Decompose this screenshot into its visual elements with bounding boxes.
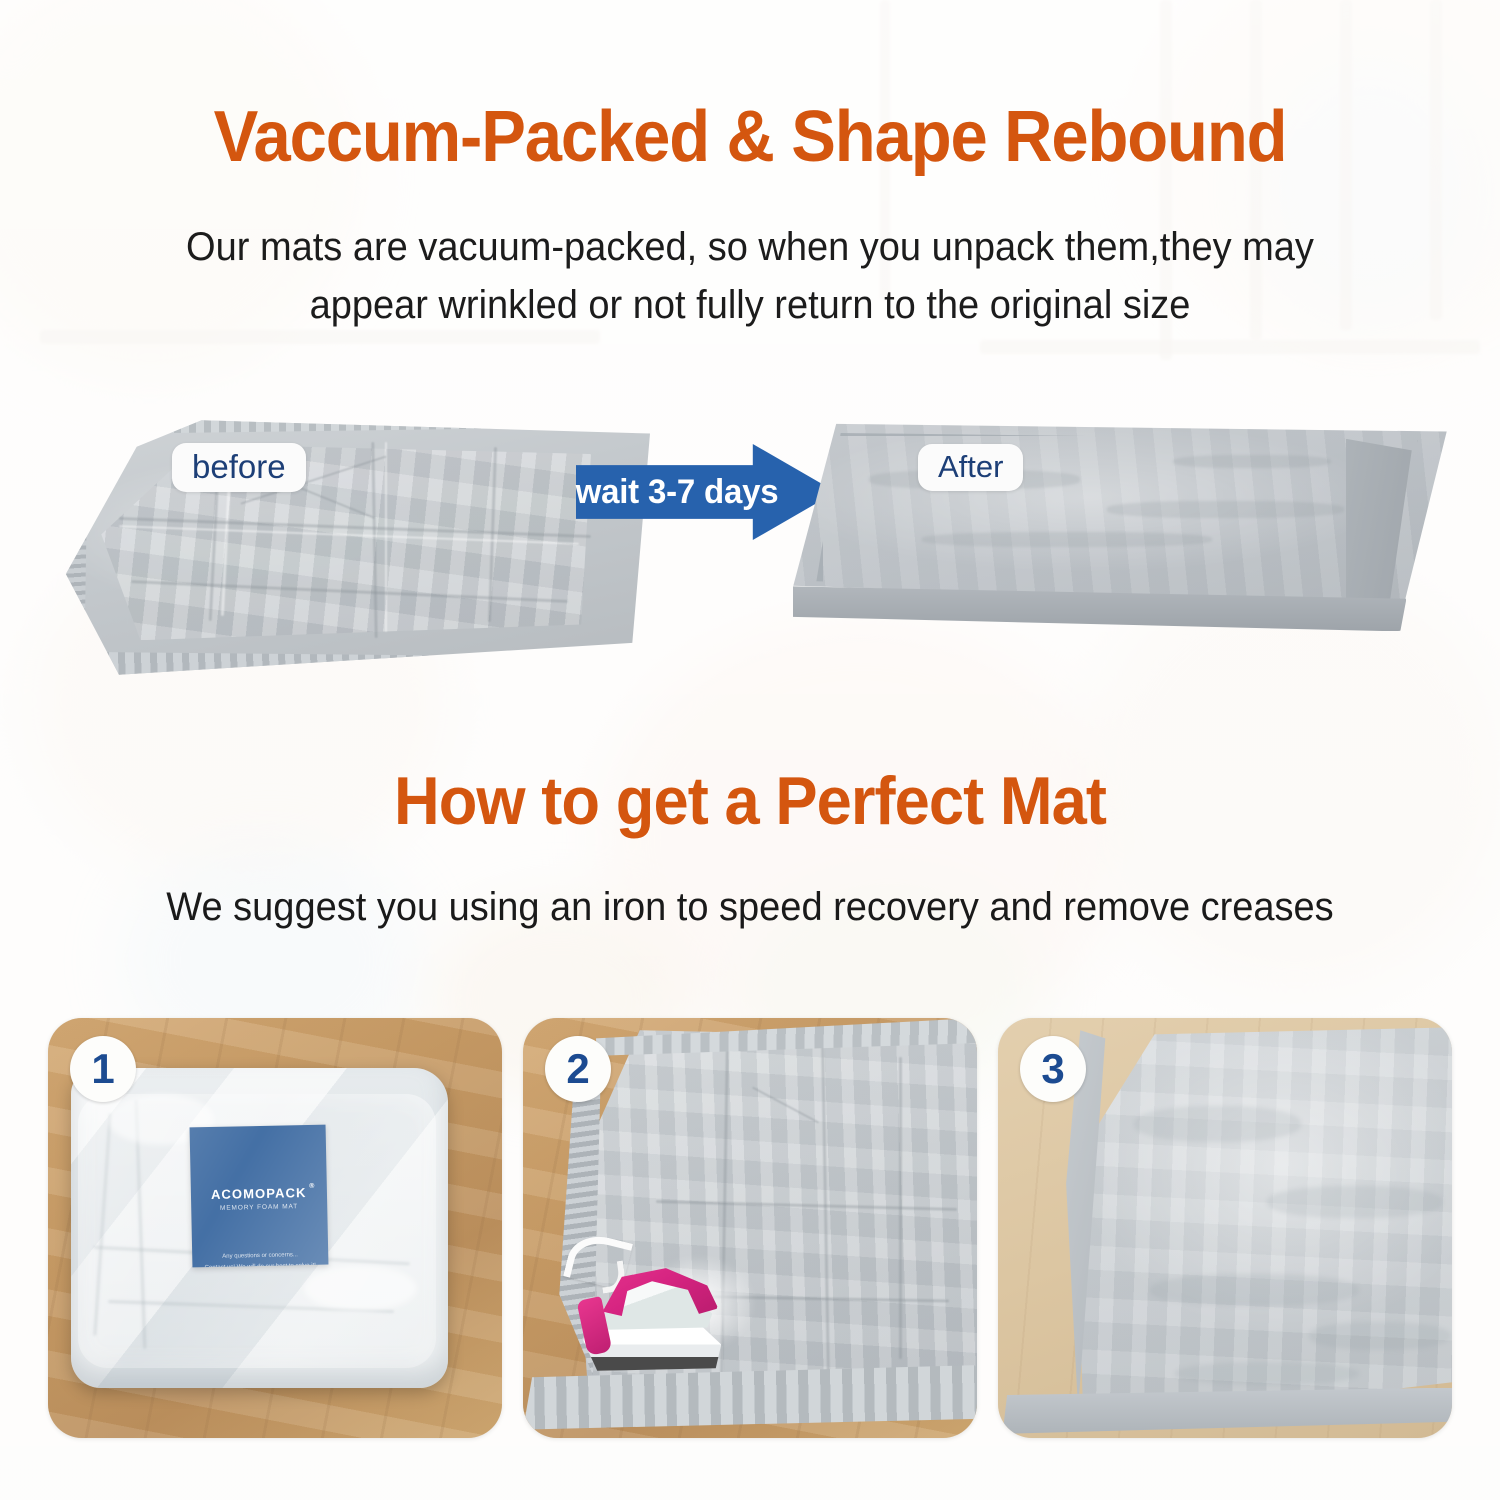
subtitle-line-2: appear wrinkled or not fully return to t… (161, 276, 1339, 334)
step-panel-3: 3 (998, 1018, 1452, 1438)
after-mat-border (816, 429, 1423, 608)
product-name: MEMORY FOAM MAT (220, 1203, 298, 1212)
step-badge-2: 2 (545, 1036, 611, 1102)
section-two-subtitle: We suggest you using an iron to speed re… (76, 885, 1425, 930)
section-two-heading: How to get a Perfect Mat (53, 762, 1448, 840)
smooth-mat-image (1075, 1026, 1452, 1425)
section-one-heading: Vaccum-Packed & Shape Rebound (53, 96, 1448, 178)
step-badge-3: 3 (1020, 1036, 1086, 1102)
before-mat-top-piping (166, 411, 626, 433)
label-contact-text: Any questions or concerns... Contact us!… (205, 1250, 317, 1268)
step-panel-2: 2 (523, 1018, 977, 1438)
before-mat-bottom-piping (62, 652, 628, 686)
product-label-card: ACOMOPACK® MEMORY FOAM MAT Any questions… (190, 1124, 329, 1267)
before-label-pill: before (172, 443, 306, 492)
arrow-label: wait 3-7 days (587, 444, 767, 540)
subtitle-line-1: Our mats are vacuum-packed, so when you … (161, 218, 1339, 276)
step-panel-1: ACOMOPACK® MEMORY FOAM MAT Any questions… (48, 1018, 502, 1438)
before-mat-left-piping (58, 425, 88, 653)
after-label-pill: After (918, 444, 1023, 491)
before-mat-image: before (60, 415, 650, 680)
section-one-subtitle: Our mats are vacuum-packed, so when you … (161, 218, 1339, 334)
steps-gallery: ACOMOPACK® MEMORY FOAM MAT Any questions… (48, 1018, 1452, 1438)
clothing-iron (577, 1270, 727, 1371)
brand-name: ACOMOPACK® (211, 1185, 307, 1202)
after-mat-image: After (790, 420, 1450, 655)
step-badge-1: 1 (70, 1036, 136, 1102)
vacuum-sealed-package: ACOMOPACK® MEMORY FOAM MAT Any questions… (71, 1068, 448, 1387)
before-mat-body (60, 415, 650, 680)
